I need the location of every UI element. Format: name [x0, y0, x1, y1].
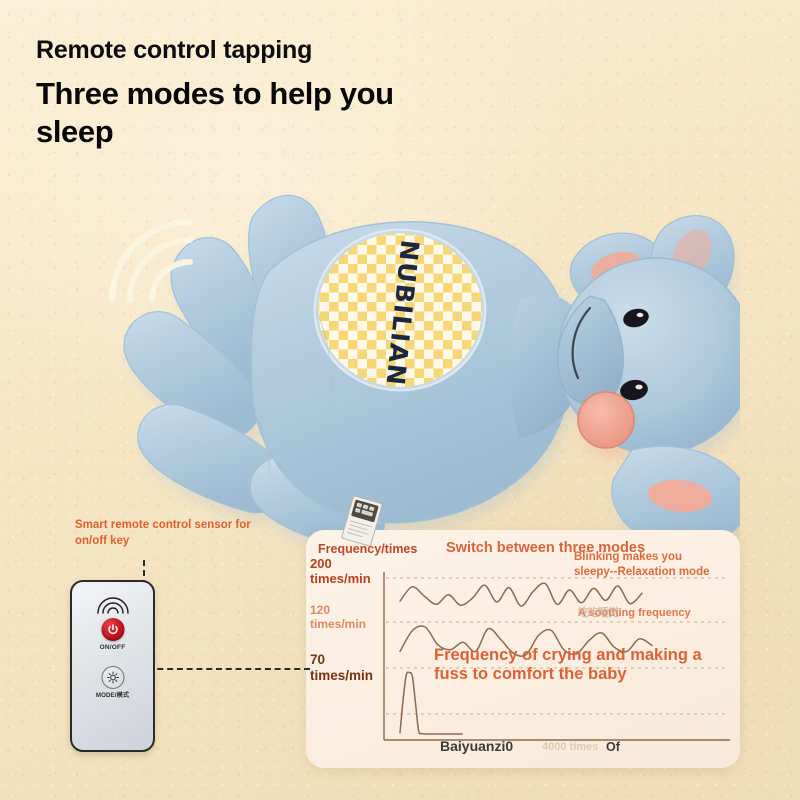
- remote-body[interactable]: ON/OFF MODE/模式: [70, 580, 155, 752]
- remote-control[interactable]: Smart remote control sensor for on/off k…: [70, 580, 155, 752]
- series-label-relaxation: Blinking makes you sleepy--Relaxation mo…: [574, 550, 722, 580]
- mode-button-label: MODE/模式: [72, 690, 153, 699]
- power-button-label: ON/OFF: [72, 644, 153, 651]
- signal-waves-icon: [102, 212, 198, 308]
- signal-waves-icon: [95, 596, 131, 614]
- gear-icon: [106, 671, 119, 684]
- series-label-comfort: Frequency of crying and making a fuss to…: [434, 646, 726, 685]
- headline-title: Three modes to help you sleep: [36, 75, 456, 152]
- sensor-callout-label: Smart remote control sensor for on/off k…: [75, 518, 255, 549]
- footer-brand: Baiyuanzi0: [440, 738, 513, 754]
- waveform-200: [400, 583, 642, 606]
- panel-footer: Baiyuanzi0 4000 times Of: [306, 734, 740, 762]
- plush-elephant-toy: NUBILIAN: [120, 150, 740, 550]
- plush-body-group: NUBILIAN: [124, 195, 740, 546]
- callout-line-mode: [128, 668, 310, 670]
- headline-block: Remote control tapping Three modes to he…: [36, 36, 456, 151]
- mode-button[interactable]: [101, 666, 124, 689]
- footer-faded-text: 4000 times: [542, 741, 598, 753]
- frequency-info-panel: Frequency/times Switch between three mod…: [306, 530, 740, 768]
- headline-subtitle: Remote control tapping: [36, 36, 456, 66]
- footer-of-text: Of: [606, 740, 620, 754]
- power-button[interactable]: [101, 618, 124, 641]
- product-marketing-image: Remote control tapping Three modes to he…: [0, 0, 800, 800]
- power-icon: [106, 623, 119, 636]
- series-label-soothing: 吃吃睡觉 A soothing frequency: [578, 606, 728, 620]
- series-label-soothing-cjk: 吃吃睡觉: [578, 606, 618, 620]
